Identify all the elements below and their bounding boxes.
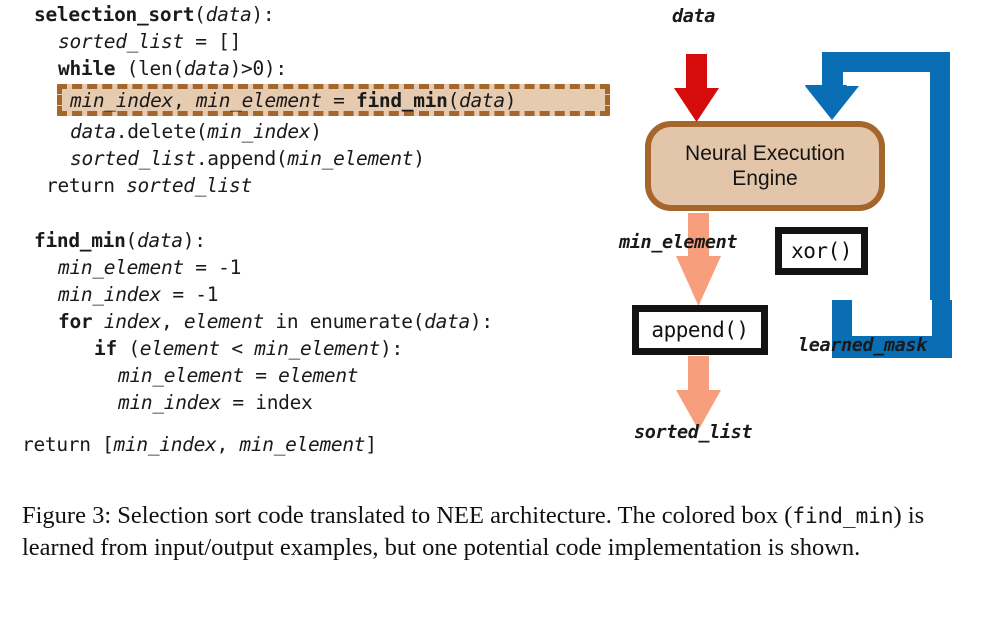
min-element-label: min_element: [619, 232, 737, 253]
code-line-1: selection_sort(data):: [34, 5, 274, 25]
append-op-box: append(): [632, 305, 768, 355]
learned-mask-label: learned_mask: [798, 335, 927, 356]
caption-figure-number: Figure 3:: [22, 502, 111, 529]
min-element-arrow: [676, 213, 721, 306]
code-line-3: while (len(data)>0):: [58, 59, 287, 79]
figure-caption: Figure 3: Selection sort code translated…: [22, 500, 960, 564]
xor-op-box: xor(): [775, 227, 868, 275]
code-line-9: min_element = -1: [58, 258, 241, 278]
code-line-12: if (element < min_element):: [94, 339, 403, 359]
data-input-arrow: [674, 54, 719, 122]
sorted-list-arrow: [676, 356, 721, 430]
append-label: append(): [651, 318, 748, 342]
code-line-14: min_index = index: [118, 393, 313, 413]
nee-architecture-diagram: Neural ExecutionEngine xor() append() da…: [620, 0, 994, 480]
code-line-2: sorted_list = []: [58, 32, 241, 52]
code-line-15: return [min_index, min_element]: [22, 435, 377, 455]
code-line-13: min_element = element: [118, 366, 358, 386]
xor-label: xor(): [791, 239, 852, 263]
code-listing: selection_sort(data): sorted_list = [] w…: [0, 0, 620, 480]
code-line-5: data.delete(min_index): [70, 122, 322, 142]
code-line-10: min_index = -1: [58, 285, 218, 305]
caption-text-1: Selection sort code translated to NEE ar…: [111, 502, 792, 529]
code-line-7: return sorted_list: [46, 176, 252, 196]
caption-code-token: find_min: [792, 504, 893, 528]
sorted-list-label: sorted_list: [634, 422, 752, 443]
code-line-8: find_min(data):: [34, 231, 206, 251]
data-input-label: data: [672, 6, 715, 27]
code-line-6: sorted_list.append(min_element): [70, 149, 425, 169]
code-line-11: for index, element in enumerate(data):: [58, 312, 493, 332]
code-line-4-learned: min_index, min_element = find_min(data): [70, 91, 516, 111]
